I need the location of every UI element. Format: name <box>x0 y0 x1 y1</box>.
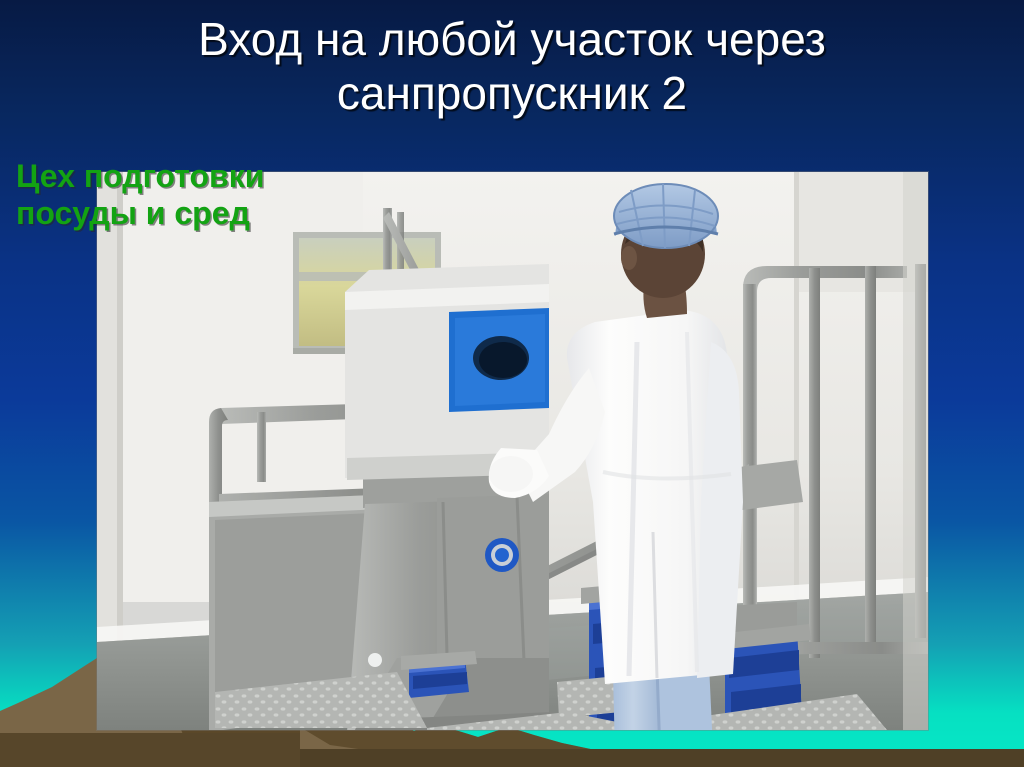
caption-line-1: Цех подготовки <box>16 158 356 195</box>
ground-left <box>0 733 300 767</box>
blue-sanitizer-panel <box>449 308 549 412</box>
presentation-slide: Вход на любой участок через санпропускни… <box>0 0 1024 767</box>
title-line-2: санпропускник 2 <box>60 66 964 120</box>
boot-wash-brushes-left <box>401 651 477 698</box>
sanitary-checkpoint-photo <box>97 172 928 730</box>
photo-illustration <box>97 172 928 730</box>
page-title: Вход на любой участок через санпропускни… <box>60 12 964 121</box>
title-line-1: Вход на любой участок через <box>60 12 964 66</box>
caption-line-2: посуды и сред <box>16 195 356 232</box>
ground-band <box>0 749 1024 767</box>
section-caption: Цех подготовки посуды и сред <box>16 158 356 232</box>
